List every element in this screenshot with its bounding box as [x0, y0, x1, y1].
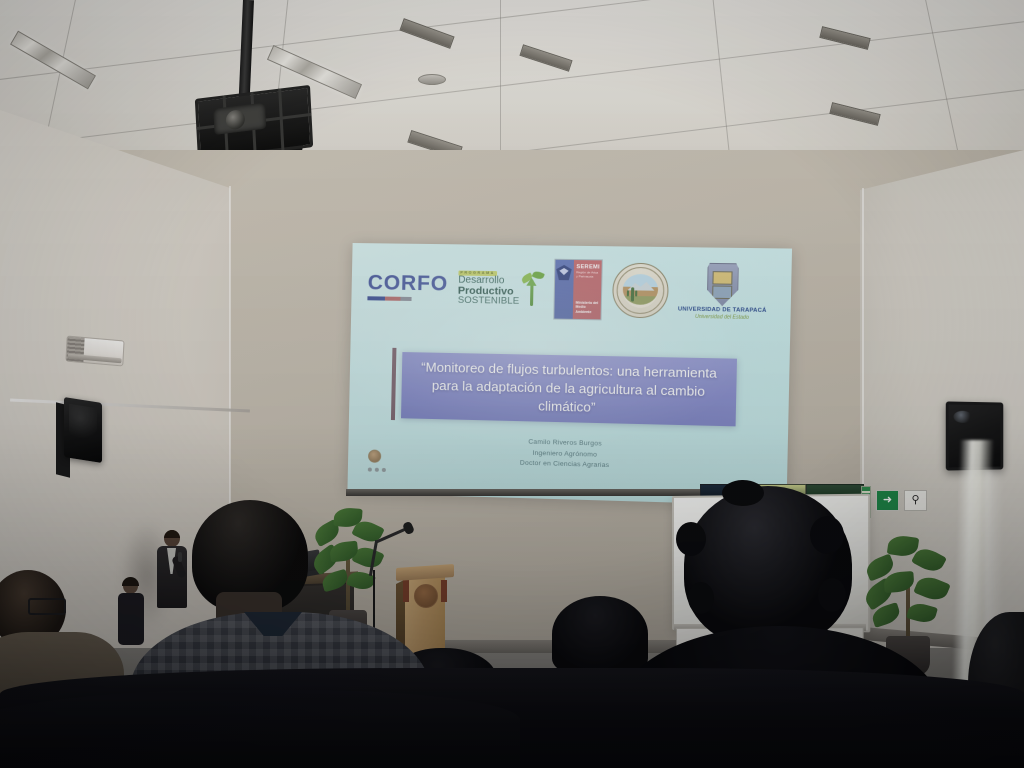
wall-corner-left: [229, 186, 231, 526]
university-seal-logo: [611, 263, 668, 319]
projection-screen: CORFO PROGRAMA Desarrollo Productivo SOS…: [347, 243, 792, 506]
tarapaca-name: UNIVERSIDAD DE TARAPACÁ: [678, 306, 767, 314]
corfo-rule: [367, 296, 411, 301]
chile-coat-of-arms-icon: [556, 265, 572, 280]
title-accent-bar: [391, 348, 397, 420]
desarrollo-productivo-sostenible-logo: PROGRAMA Desarrollo Productivo SOSTENIBL…: [458, 270, 544, 306]
slide-logo-strip: CORFO PROGRAMA Desarrollo Productivo SOS…: [351, 251, 792, 329]
corfo-wordmark: CORFO: [368, 272, 449, 294]
eyeglasses-icon: [28, 598, 66, 615]
universidad-tarapaca-logo: UNIVERSIDAD DE TARAPACÁ Universidad del …: [678, 262, 768, 321]
wall-speaker-left: [64, 397, 102, 463]
slide-corner-logo: [368, 450, 395, 479]
cactus-icon: [630, 287, 633, 301]
dps-line3: SOSTENIBLE: [458, 296, 520, 306]
front-row-seat-left: [0, 690, 520, 768]
audience-seated-center: [552, 596, 648, 672]
corner-logo-mark-icon: [368, 450, 381, 463]
smoke-detector-icon: [418, 74, 446, 85]
seremi-logo: SEREMI Región de Arica y Parinacota Mini…: [553, 259, 603, 321]
slide-title: “Monitoreo de flujos turbulentos: una he…: [401, 358, 737, 420]
presentation-room-photo: CORFO PROGRAMA Desarrollo Productivo SOS…: [0, 0, 1024, 768]
seremi-footer: Ministerio del Medio Ambiente: [575, 300, 600, 314]
tarapaca-tagline: Universidad del Estado: [695, 314, 749, 321]
slide-author-block: Camilo Riveros Burgos Ingeniero Agrónomo…: [348, 433, 788, 477]
emergency-info-sign: ⚲: [904, 490, 927, 511]
slide-title-band: “Monitoreo de flujos turbulentos: una he…: [401, 352, 737, 426]
corfo-logo: CORFO: [367, 272, 448, 301]
air-conditioner-unit: [65, 335, 124, 366]
tarapaca-shield-icon: [706, 263, 738, 307]
leaf-arrow-icon: [520, 271, 543, 306]
seremi-subtitle: Región de Arica y Parinacota: [576, 271, 599, 279]
presentation-slide: CORFO PROGRAMA Desarrollo Productivo SOS…: [347, 243, 792, 506]
